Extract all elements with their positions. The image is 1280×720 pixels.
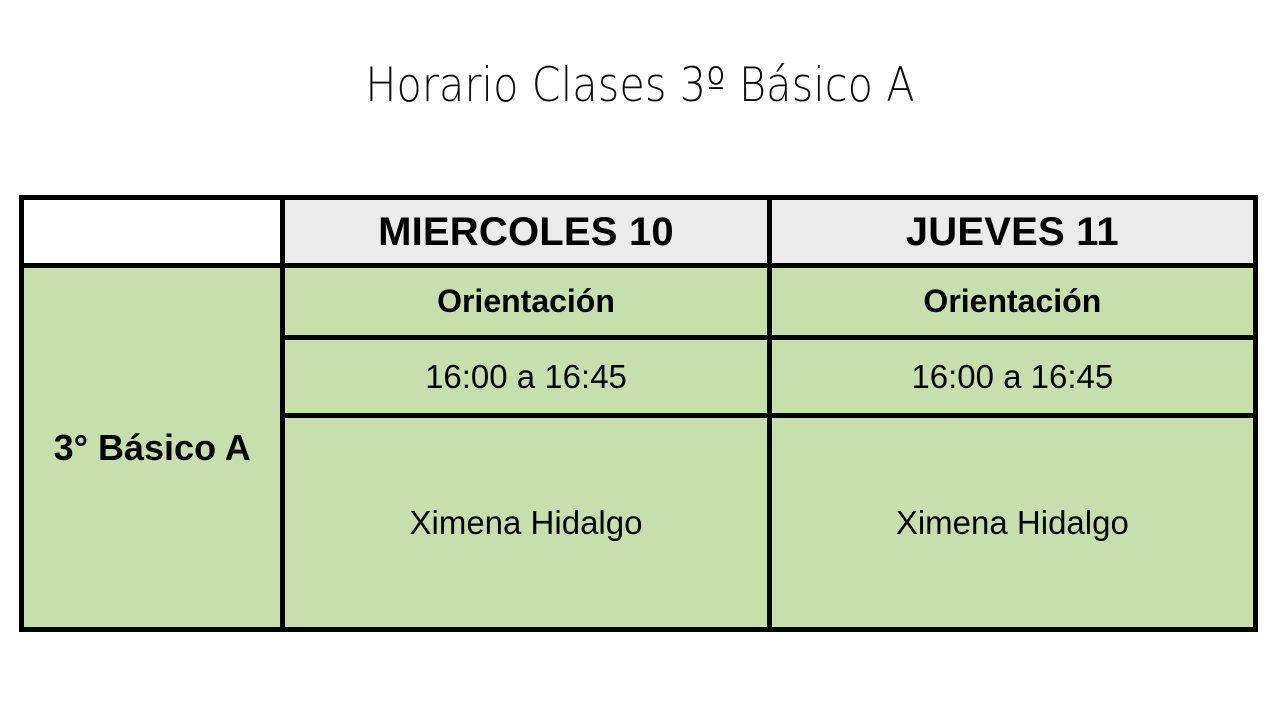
cell-subject-miercoles: Orientación bbox=[283, 266, 769, 338]
column-header-miercoles: MIERCOLES 10 bbox=[283, 198, 769, 266]
page-title: Horario Clases 3º Básico A bbox=[77, 58, 1203, 113]
cell-time-miercoles: 16:00 a 16:45 bbox=[283, 338, 769, 416]
cell-teacher-jueves: Ximena Hidalgo bbox=[769, 416, 1255, 630]
row-label-grade: 3° Básico A bbox=[22, 266, 283, 630]
cell-subject-jueves: Orientación bbox=[769, 266, 1255, 338]
cell-time-jueves: 16:00 a 16:45 bbox=[769, 338, 1255, 416]
table-corner-cell bbox=[22, 198, 283, 266]
column-header-jueves: JUEVES 11 bbox=[769, 198, 1255, 266]
table-header-row: MIERCOLES 10 JUEVES 11 bbox=[22, 198, 1256, 266]
schedule-table-container: MIERCOLES 10 JUEVES 11 3° Básico A Orien… bbox=[19, 195, 1258, 632]
cell-teacher-miercoles: Ximena Hidalgo bbox=[283, 416, 769, 630]
table-row-subject: 3° Básico A Orientación Orientación bbox=[22, 266, 1256, 338]
schedule-table: MIERCOLES 10 JUEVES 11 3° Básico A Orien… bbox=[19, 195, 1258, 632]
